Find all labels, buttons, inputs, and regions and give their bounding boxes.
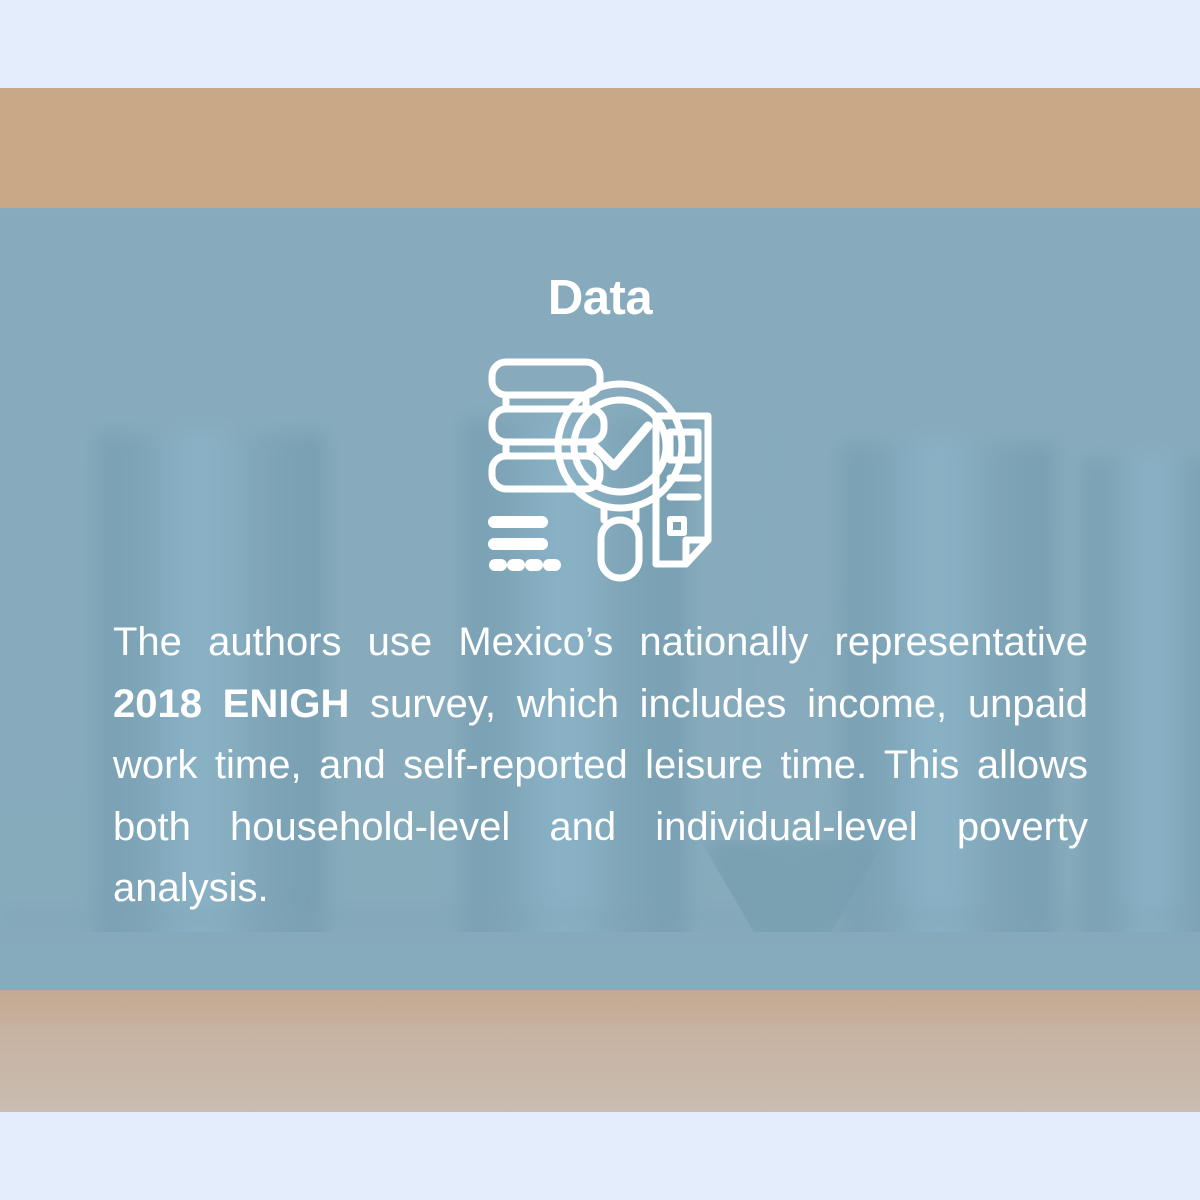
body-text-part1: The authors use Mexico’s nationally repr… [113,620,1088,664]
body-paragraph: The authors use Mexico’s nationally repr… [113,612,1088,920]
body-text-highlight: 2018 ENIGH [113,682,349,726]
slide-content: Data [0,208,1200,990]
slide-canvas: Data [0,0,1200,1200]
data-analysis-icon [480,354,720,586]
page-title: Data [0,274,1200,323]
